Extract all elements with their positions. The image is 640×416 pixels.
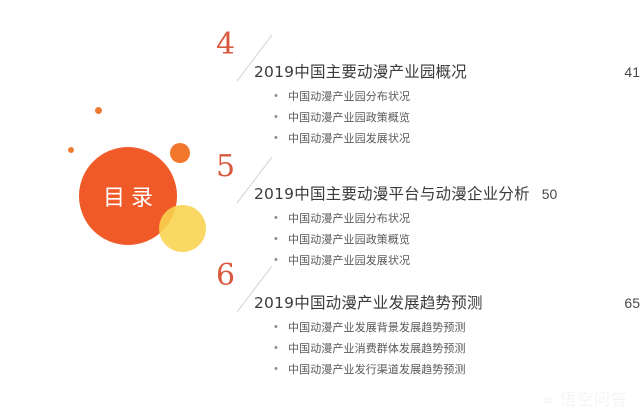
section-page-number: 65 [610, 293, 640, 313]
bullet-dot-icon: • [274, 208, 288, 229]
section-page-number: 50 [530, 184, 558, 204]
toc-badge-label: 目录 [79, 147, 177, 245]
list-item: • 中国动漫产业发行渠道发展趋势预测 [274, 359, 634, 380]
list-item: • 中国动漫产业消费群体发展趋势预测 [274, 338, 634, 359]
bullet-dot-icon: • [274, 338, 288, 359]
list-item-label: 中国动漫产业园分布状况 [288, 208, 410, 229]
bullet-dot-icon: • [274, 128, 288, 149]
toc-entry-list: 4 2019中国主要动漫产业园概况 41 • 中国动漫产业园分布状况 • [214, 0, 640, 416]
toc-slide: 目录 4 2019中国主要动漫产业园概况 41 • 中国动漫产业园分布状况 [0, 0, 640, 416]
bullet-dot-icon: • [274, 107, 288, 128]
list-item-label: 中国动漫产业发展背景发展趋势预测 [288, 317, 466, 338]
section-heading-row: 2019中国主要动漫平台与动漫企业分析 50 [254, 184, 640, 204]
accent-orange-dot-icon [170, 143, 190, 163]
section-heading-row: 2019中国动漫产业发展趋势预测 65 [254, 293, 640, 313]
list-item-label: 中国动漫产业园分布状况 [288, 86, 410, 107]
decorative-circle-cluster: 目录 [0, 0, 240, 416]
small-dot-lower-icon [68, 147, 74, 153]
section-number: 4 [216, 30, 235, 60]
section-title: 2019中国主要动漫平台与动漫企业分析 [254, 184, 530, 204]
section-number: 6 [216, 261, 235, 291]
section-bullet-list: • 中国动漫产业园分布状况 • 中国动漫产业园政策概览 • 中国动漫产业园发展状… [274, 208, 634, 271]
list-item-label: 中国动漫产业消费群体发展趋势预测 [288, 338, 466, 359]
list-item-label: 中国动漫产业发行渠道发展趋势预测 [288, 359, 466, 380]
bullet-dot-icon: • [274, 317, 288, 338]
list-item-label: 中国动漫产业园发展状况 [288, 128, 410, 149]
accent-yellow-circle [159, 205, 206, 252]
section-bullet-list: • 中国动漫产业园分布状况 • 中国动漫产业园政策概览 • 中国动漫产业园发展状… [274, 86, 634, 149]
list-item-label: 中国动漫产业园政策概览 [288, 107, 410, 128]
section-heading-row: 2019中国主要动漫产业园概况 41 [254, 62, 640, 82]
list-item-label: 中国动漫产业园政策概览 [288, 229, 410, 250]
section-number: 5 [216, 152, 235, 182]
primary-orange-circle [79, 147, 177, 245]
list-item: • 中国动漫产业园政策概览 [274, 107, 634, 128]
list-item: • 中国动漫产业园政策概览 [274, 229, 634, 250]
small-dot-upper-icon [95, 107, 102, 114]
list-item: • 中国动漫产业园发展状况 [274, 250, 634, 271]
section-page-number: 41 [610, 62, 640, 82]
section-title: 2019中国动漫产业发展趋势预测 [254, 293, 483, 313]
list-item-label: 中国动漫产业园发展状况 [288, 250, 410, 271]
list-item: • 中国动漫产业园发展状况 [274, 128, 634, 149]
list-item: • 中国动漫产业园分布状况 [274, 86, 634, 107]
bullet-dot-icon: • [274, 359, 288, 380]
list-item: • 中国动漫产业园分布状况 [274, 208, 634, 229]
section-title: 2019中国主要动漫产业园概况 [254, 62, 467, 82]
list-item: • 中国动漫产业发展背景发展趋势预测 [274, 317, 634, 338]
bullet-dot-icon: • [274, 229, 288, 250]
bullet-dot-icon: • [274, 86, 288, 107]
section-bullet-list: • 中国动漫产业发展背景发展趋势预测 • 中国动漫产业消费群体发展趋势预测 • … [274, 317, 634, 380]
